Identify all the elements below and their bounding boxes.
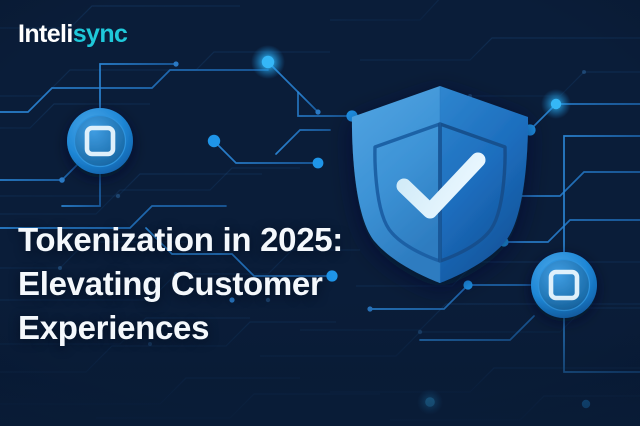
headline-line-3: Experiences bbox=[18, 306, 418, 350]
brand-logo-part-a: Inteli bbox=[18, 20, 73, 48]
headline-line-2: Elevating Customer bbox=[18, 262, 418, 306]
headline-line-1: Tokenization in 2025: bbox=[18, 218, 418, 262]
brand-logo-part-b: sync bbox=[73, 20, 128, 48]
token-node-left bbox=[0, 0, 640, 426]
brand-logo[interactable]: Intelisync bbox=[18, 22, 127, 47]
token-node-right-group bbox=[531, 252, 597, 318]
headline-title: Tokenization in 2025: Elevating Customer… bbox=[18, 218, 418, 350]
token-node-left-group bbox=[67, 108, 133, 174]
hero-banner: Intelisync Tokenization in 2025: Elevati… bbox=[0, 0, 640, 426]
